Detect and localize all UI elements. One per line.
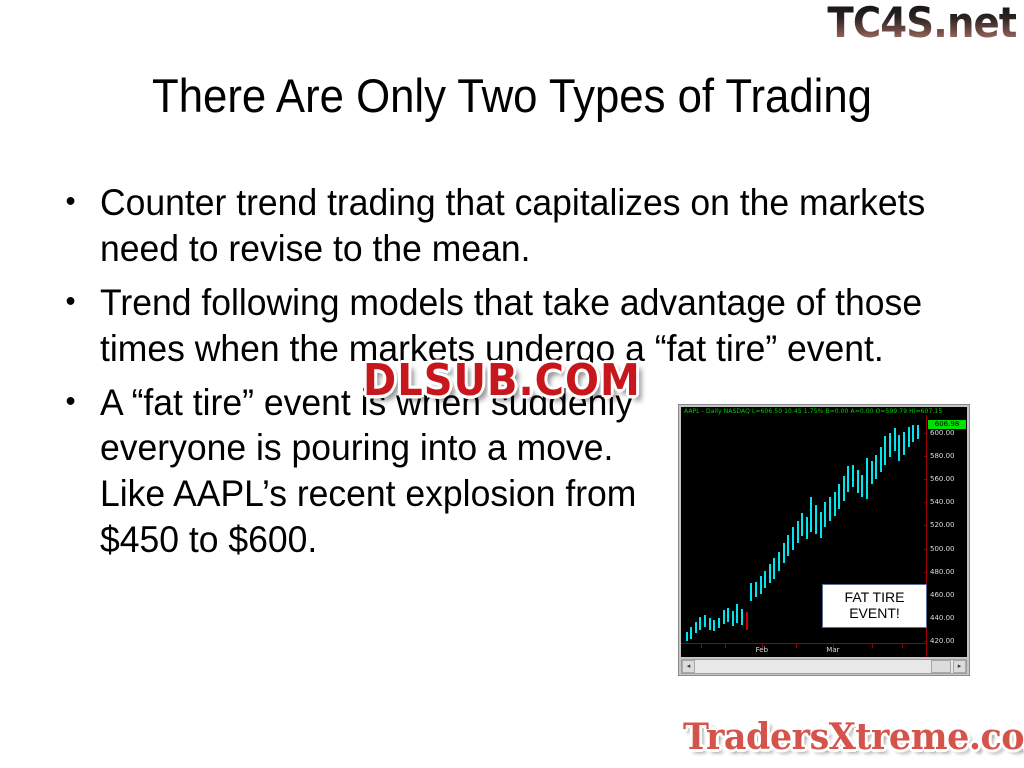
time-axis-tick (872, 644, 873, 648)
ohlc-bar (686, 632, 688, 641)
price-axis-tick (924, 456, 927, 457)
bullet-marker-icon: • (65, 180, 75, 223)
ohlc-bar (797, 521, 799, 543)
chart-canvas[interactable]: AAPL - Daily NASDAQ L=606.50 10.45 1.75%… (681, 407, 967, 657)
price-axis-label: 440.00 (930, 614, 955, 622)
ohlc-bar (727, 608, 729, 622)
ohlc-bar (760, 576, 762, 593)
ohlc-bar (723, 610, 725, 624)
time-axis-tick (796, 644, 797, 648)
ohlc-bar (917, 425, 919, 439)
ohlc-bar (713, 620, 715, 630)
ohlc-bar (732, 611, 734, 626)
ohlc-bar (778, 552, 780, 571)
ohlc-bar (852, 465, 854, 487)
ohlc-bar (903, 432, 905, 455)
ohlc-bar (695, 622, 697, 634)
ohlc-bar (773, 558, 775, 579)
time-axis-tick (902, 644, 903, 648)
ohlc-bar (815, 505, 817, 534)
time-axis-tick (725, 644, 726, 648)
ohlc-bar (699, 617, 701, 630)
ohlc-bar (755, 582, 757, 597)
ohlc-bar (866, 458, 868, 499)
ohlc-bar (801, 513, 803, 536)
chart-header-quote-line: AAPL - Daily NASDAQ L=606.50 10.45 1.75%… (684, 408, 942, 415)
slide-canvas: TC4S.net There Are Only Two Types of Tra… (0, 0, 1024, 768)
ohlc-bar (690, 627, 692, 639)
bullet-item-1: • Counter trend trading that capitalizes… (52, 180, 945, 272)
bullet-marker-icon: • (65, 380, 75, 423)
aapl-chart-widget[interactable]: AAPL - Daily NASDAQ L=606.50 10.45 1.75%… (678, 404, 970, 676)
price-axis-tick (924, 572, 927, 573)
price-axis-label: 600.00 (930, 429, 955, 437)
price-axis-tick (924, 433, 927, 434)
ohlc-bar (810, 497, 812, 533)
dlsub-watermark: DLSUB.COM (363, 356, 641, 406)
chart-horizontal-scrollbar[interactable]: ◂ ▸ (681, 659, 967, 674)
price-axis-tick (924, 525, 927, 526)
ohlc-bar (792, 527, 794, 550)
ohlc-bar (824, 502, 826, 526)
price-axis-label: 500.00 (930, 545, 955, 553)
ohlc-bar (871, 461, 873, 484)
brand-logo-tc4s: TC4S.net (827, 2, 1016, 44)
ohlc-bar (746, 612, 748, 629)
ohlc-bar (889, 433, 891, 457)
price-axis-label: 480.00 (930, 568, 955, 576)
price-axis-label: 460.00 (930, 591, 955, 599)
ohlc-bar (861, 475, 863, 497)
price-axis-tick (924, 479, 927, 480)
price-axis-label: 540.00 (930, 498, 955, 506)
ohlc-bar (783, 543, 785, 563)
ohlc-bar (898, 435, 900, 460)
fat-tire-event-callout: FAT TIRE EVENT! (822, 584, 927, 628)
ohlc-bar (764, 571, 766, 588)
ohlc-bar (750, 583, 752, 600)
bullet-item-3: • A “fat tire” event is when suddenly ev… (52, 380, 686, 564)
bullet-text: Counter trend trading that capitalizes o… (100, 182, 925, 269)
time-axis-tick (762, 644, 763, 648)
time-axis-tick (701, 644, 702, 648)
page-title: There Are Only Two Types of Trading (36, 68, 988, 123)
ohlc-bar (704, 615, 706, 628)
ohlc-bar (880, 447, 882, 472)
ohlc-bar (834, 492, 836, 516)
ohlc-bar (820, 512, 822, 539)
ohlc-bar (787, 535, 789, 556)
ohlc-bar (736, 604, 738, 623)
ohlc-bar (843, 476, 845, 501)
chart-price-axis: 606.98 600.00580.00560.00540.00520.00500… (926, 415, 967, 657)
price-axis-label: 420.00 (930, 637, 955, 645)
footer-logo-tradersxtreme: TradersXtreme.com (683, 716, 1024, 758)
scroll-left-arrow-icon[interactable]: ◂ (682, 660, 695, 673)
ohlc-bar (847, 466, 849, 491)
ohlc-bar (912, 425, 914, 442)
price-axis-label: 560.00 (930, 475, 955, 483)
price-axis-tick (924, 549, 927, 550)
time-axis-tick (833, 644, 834, 648)
ohlc-bar (908, 427, 910, 447)
scrollbar-thumb[interactable] (931, 660, 951, 673)
ohlc-bar (875, 455, 877, 479)
ohlc-bar (718, 618, 720, 628)
ohlc-bar (894, 428, 896, 451)
ohlc-bar (709, 618, 711, 630)
scroll-right-arrow-icon[interactable]: ▸ (953, 660, 966, 673)
ohlc-bar (857, 470, 859, 493)
ohlc-bar (829, 497, 831, 521)
ohlc-bar (741, 609, 743, 625)
last-price-badge: 606.98 (928, 420, 966, 429)
price-axis-label: 520.00 (930, 521, 955, 529)
bullet-marker-icon: • (65, 280, 75, 323)
ohlc-bar (838, 484, 840, 509)
ohlc-bar (769, 564, 771, 584)
price-axis-label: 580.00 (930, 452, 955, 460)
bullet-text: A “fat tire” event is when suddenly ever… (100, 382, 636, 561)
chart-time-axis: FebMar (681, 643, 926, 657)
price-axis-tick (924, 502, 927, 503)
ohlc-bar (884, 436, 886, 465)
ohlc-bar (806, 517, 808, 539)
